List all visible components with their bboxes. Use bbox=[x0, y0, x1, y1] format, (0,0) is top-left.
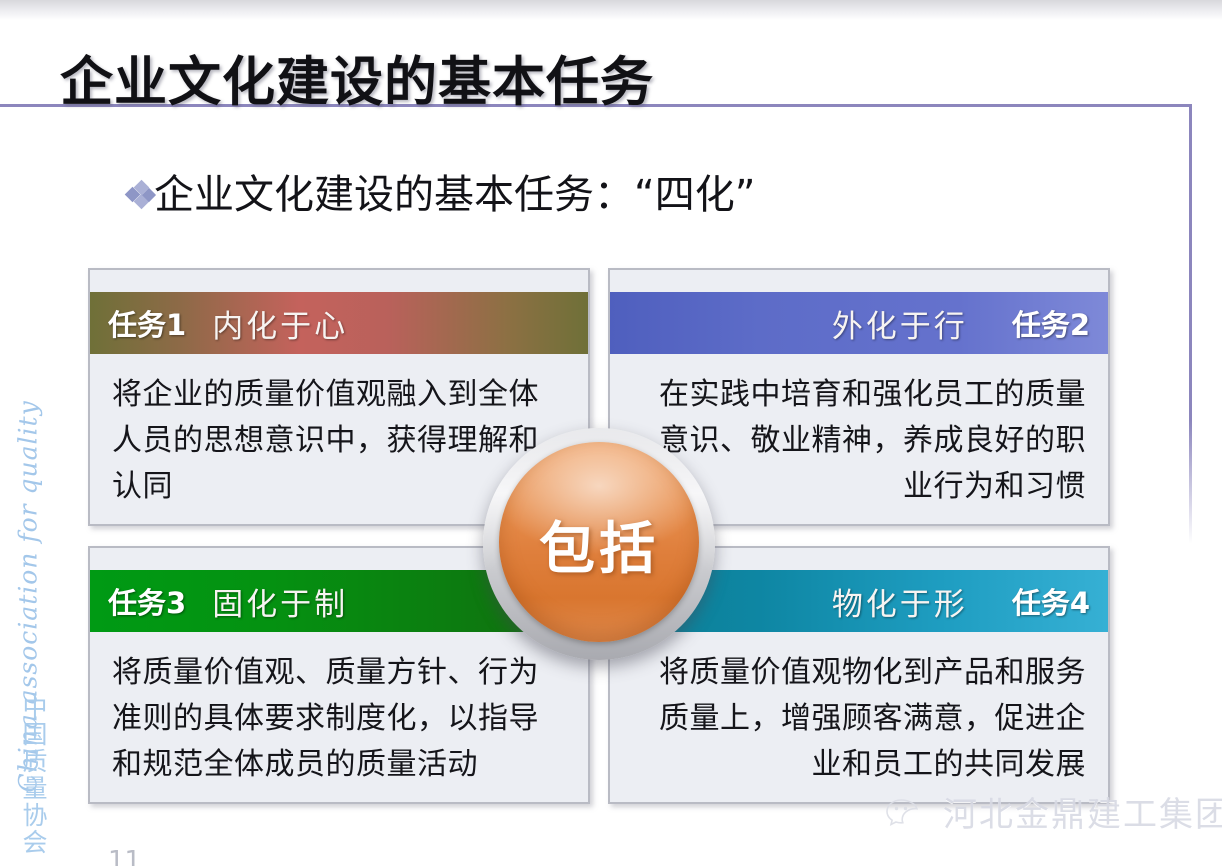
left-watermark-chinese: 中国质量协会 bbox=[8, 694, 48, 856]
wechat-icon bbox=[885, 798, 931, 832]
slide-canvas: 企业文化建设的基本任务 企业文化建设的基本任务：“四化” 任务1 内化于心 将企… bbox=[0, 0, 1222, 866]
top-gray-band bbox=[0, 0, 1222, 20]
task-card-3-name: 固化于制 bbox=[212, 579, 348, 624]
task-card-4-name: 物化于形 bbox=[832, 579, 968, 624]
center-hub-button[interactable]: 包括 bbox=[483, 428, 715, 660]
subtitle-text: 企业文化建设的基本任务：“四化” bbox=[154, 172, 755, 218]
task-card-2-number: 任务2 bbox=[1012, 302, 1090, 344]
task-card-1-number: 任务1 bbox=[108, 302, 186, 344]
task-card-3-number: 任务3 bbox=[108, 580, 186, 622]
title-rule-vertical bbox=[1189, 104, 1192, 544]
task-card-2-header: 外化于行 任务2 bbox=[610, 292, 1108, 354]
task-card-1-header: 任务1 内化于心 bbox=[90, 292, 588, 354]
bottom-right-watermark-text: 河北金鼎建工集团 bbox=[943, 796, 1222, 834]
center-hub-label: 包括 bbox=[483, 428, 715, 660]
diamond-bullet-icon bbox=[126, 180, 152, 210]
page-number: 11 bbox=[108, 846, 141, 866]
task-card-1-name: 内化于心 bbox=[212, 301, 348, 346]
task-card-2-name: 外化于行 bbox=[832, 301, 968, 346]
task-card-4-number: 任务4 bbox=[1012, 580, 1090, 622]
subtitle-row: 企业文化建设的基本任务：“四化” bbox=[126, 172, 755, 218]
left-watermark: China association for quality 中国质量协会 bbox=[6, 418, 50, 858]
page-title: 企业文化建设的基本任务 bbox=[60, 52, 654, 114]
bottom-right-watermark: 河北金鼎建工集团 bbox=[885, 796, 1222, 834]
